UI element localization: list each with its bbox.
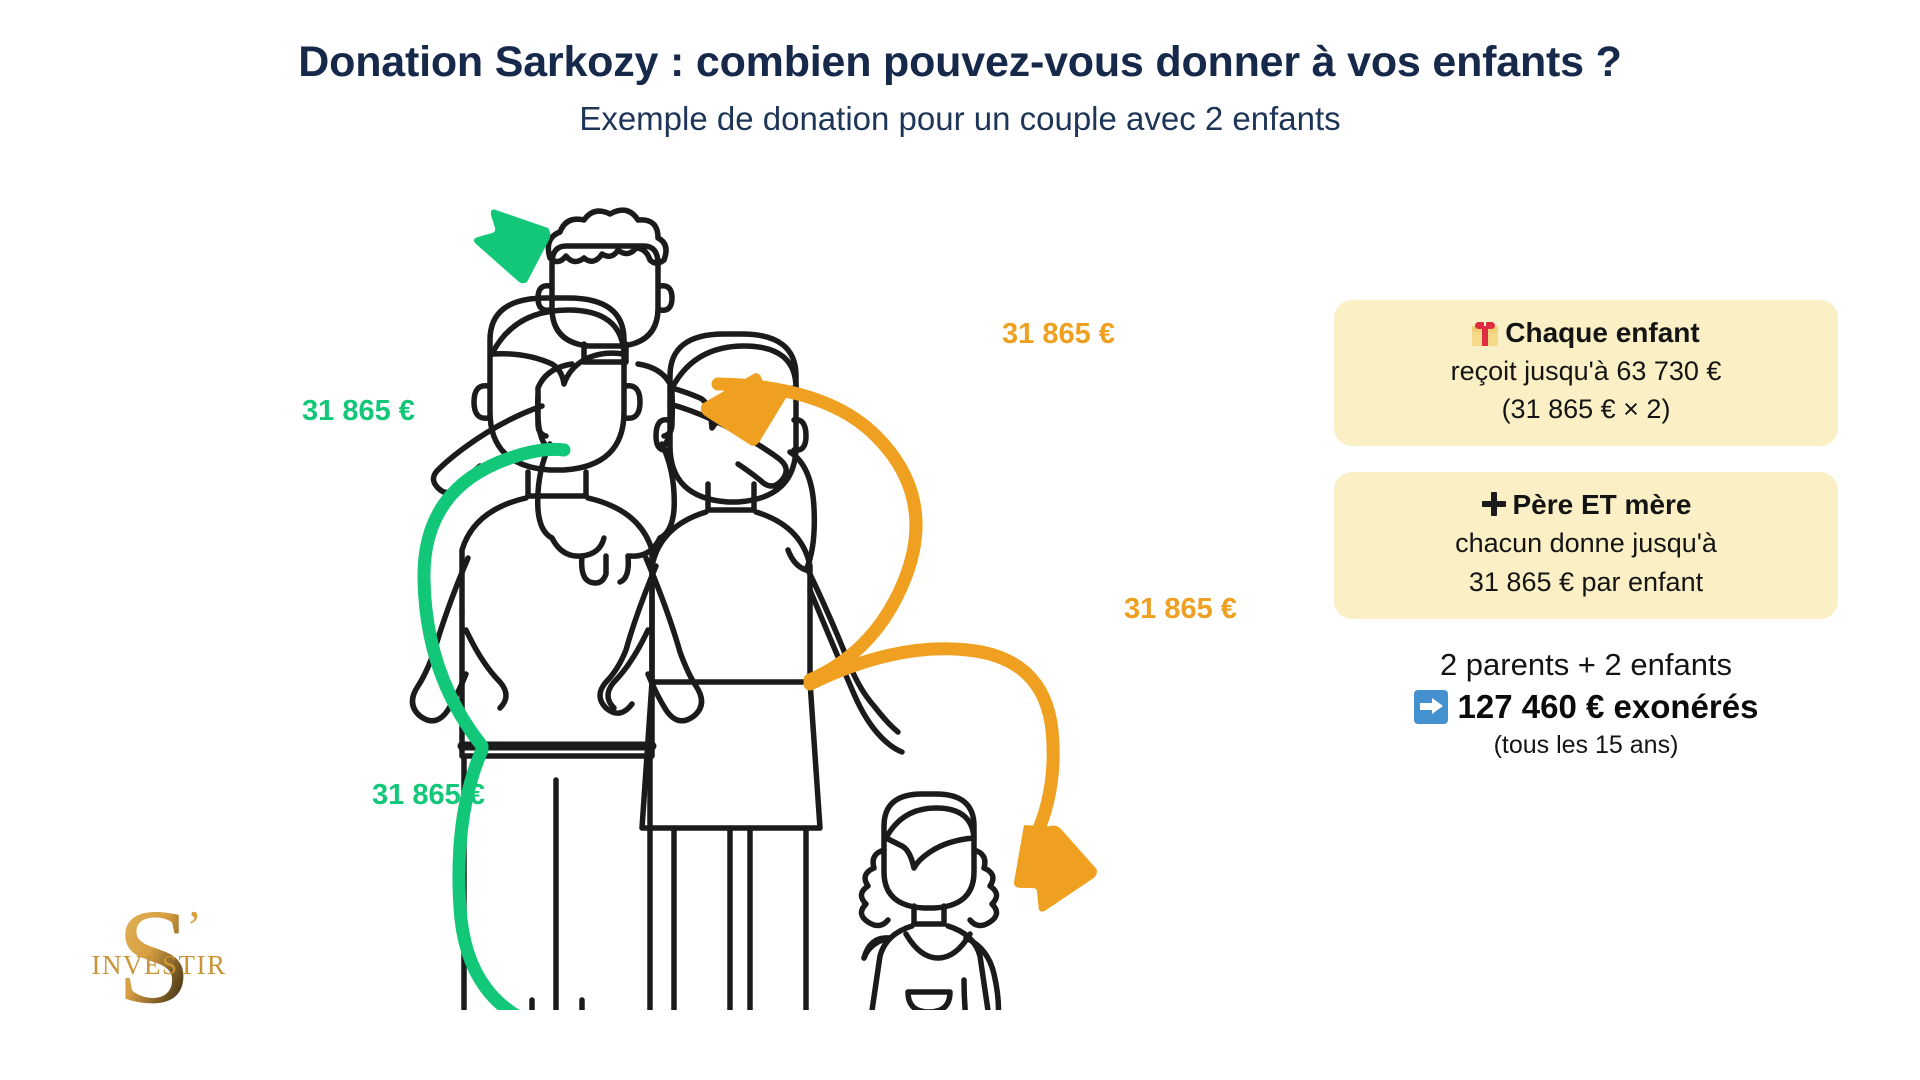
- amount-label-green-bottom: 31 865 €: [372, 779, 485, 812]
- amount-label-orange-bottom: 31 865 €: [1124, 593, 1237, 626]
- card-chaque-enfant-line1: reçoit jusqu'à 63 730 €: [1356, 352, 1816, 390]
- plus-icon: [1481, 491, 1507, 517]
- summary-line-2: 127 460 € exonérés: [1334, 685, 1838, 729]
- header: Donation Sarkozy : combien pouvez-vous d…: [0, 38, 1920, 139]
- green-arrow-head-boy: [474, 210, 550, 284]
- amount-label-green-top: 31 865 €: [302, 395, 415, 428]
- info-panel: Chaque enfant reçoit jusqu'à 63 730 € (3…: [1334, 300, 1838, 762]
- amount-label-orange-top: 31 865 €: [1002, 318, 1115, 351]
- logo-apostrophe: ’: [186, 901, 201, 952]
- card-pere-et-mere-title: Père ET mère: [1356, 486, 1816, 524]
- card-pere-et-mere-line1: chacun donne jusqu'à: [1356, 524, 1816, 562]
- gift-icon: [1472, 322, 1498, 346]
- page-title: Donation Sarkozy : combien pouvez-vous d…: [0, 38, 1920, 87]
- infographic-page: Donation Sarkozy : combien pouvez-vous d…: [0, 0, 1920, 1080]
- card-pere-et-mere-line2: 31 865 € par enfant: [1356, 563, 1816, 601]
- page-subtitle: Exemple de donation pour un couple avec …: [0, 99, 1920, 139]
- summary-block: 2 parents + 2 enfants 127 460 € exonérés…: [1334, 645, 1838, 762]
- card-chaque-enfant-title-text: Chaque enfant: [1505, 317, 1699, 348]
- logo-wordmark: INVESTIR: [92, 950, 227, 980]
- card-pere-et-mere: Père ET mère chacun donne jusqu'à 31 865…: [1334, 472, 1838, 618]
- orange-arrow-head-boy: [697, 369, 797, 453]
- card-chaque-enfant-title: Chaque enfant: [1356, 314, 1816, 352]
- card-chaque-enfant-line2: (31 865 € × 2): [1356, 390, 1816, 428]
- right-arrow-icon: [1414, 690, 1448, 724]
- card-pere-et-mere-title-text: Père ET mère: [1513, 489, 1692, 520]
- orange-arrow-head-girl: [1005, 818, 1106, 922]
- summary-line-1: 2 parents + 2 enfants: [1334, 645, 1838, 685]
- card-chaque-enfant: Chaque enfant reçoit jusqu'à 63 730 € (3…: [1334, 300, 1838, 446]
- logo-sinvestir: S ’ INVESTIR: [86, 890, 236, 1030]
- summary-total-text: 127 460 € exonérés: [1458, 685, 1759, 729]
- summary-line-3: (tous les 15 ans): [1334, 729, 1838, 762]
